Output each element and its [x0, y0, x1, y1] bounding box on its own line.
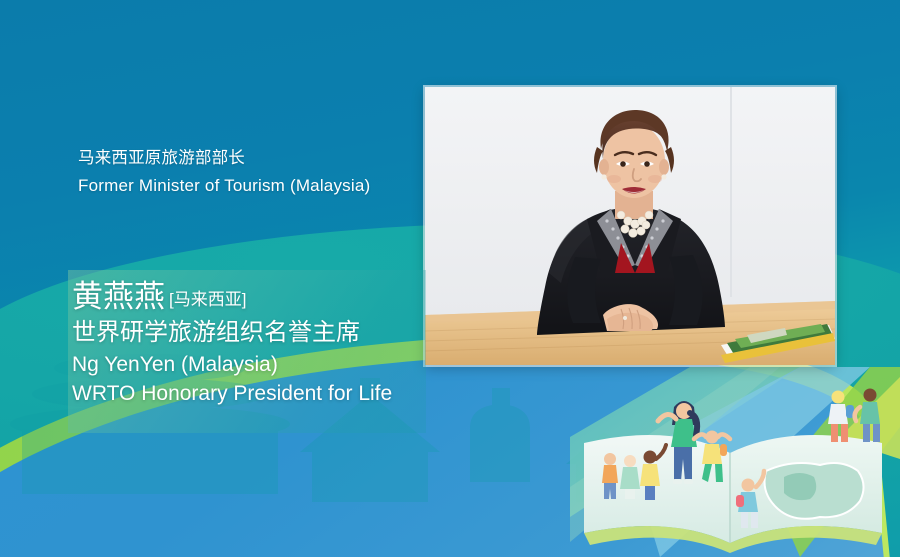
speaker-name-cn-line: 黄燕燕[马来西亚]: [72, 278, 452, 316]
role-title-en: Former Minister of Tourism (Malaysia): [78, 173, 438, 199]
speaker-name-cn: 黄燕燕: [72, 279, 165, 314]
speaker-portrait-image: [425, 87, 835, 365]
speaker-photo: [425, 87, 835, 365]
speaker-slide: 马来西亚原旅游部部长 Former Minister of Tourism (M…: [0, 0, 900, 557]
speaker-org-title-cn: 世界研学旅游组织名誉主席: [72, 317, 452, 349]
speaker-country-cn: [马来西亚]: [169, 290, 246, 309]
region-map-icon: [765, 463, 864, 519]
speaker-name-block: 黄燕燕[马来西亚] 世界研学旅游组织名誉主席 Ng YenYen (Malays…: [72, 278, 452, 408]
speaker-org-title-en: WRTO Honorary President for Life: [72, 380, 452, 408]
role-title-cn: 马来西亚原旅游部部长: [78, 146, 438, 171]
open-book-illustration: [570, 367, 900, 557]
speaker-name-en: Ng YenYen (Malaysia): [72, 351, 452, 379]
role-block: 马来西亚原旅游部部长 Former Minister of Tourism (M…: [78, 146, 438, 199]
